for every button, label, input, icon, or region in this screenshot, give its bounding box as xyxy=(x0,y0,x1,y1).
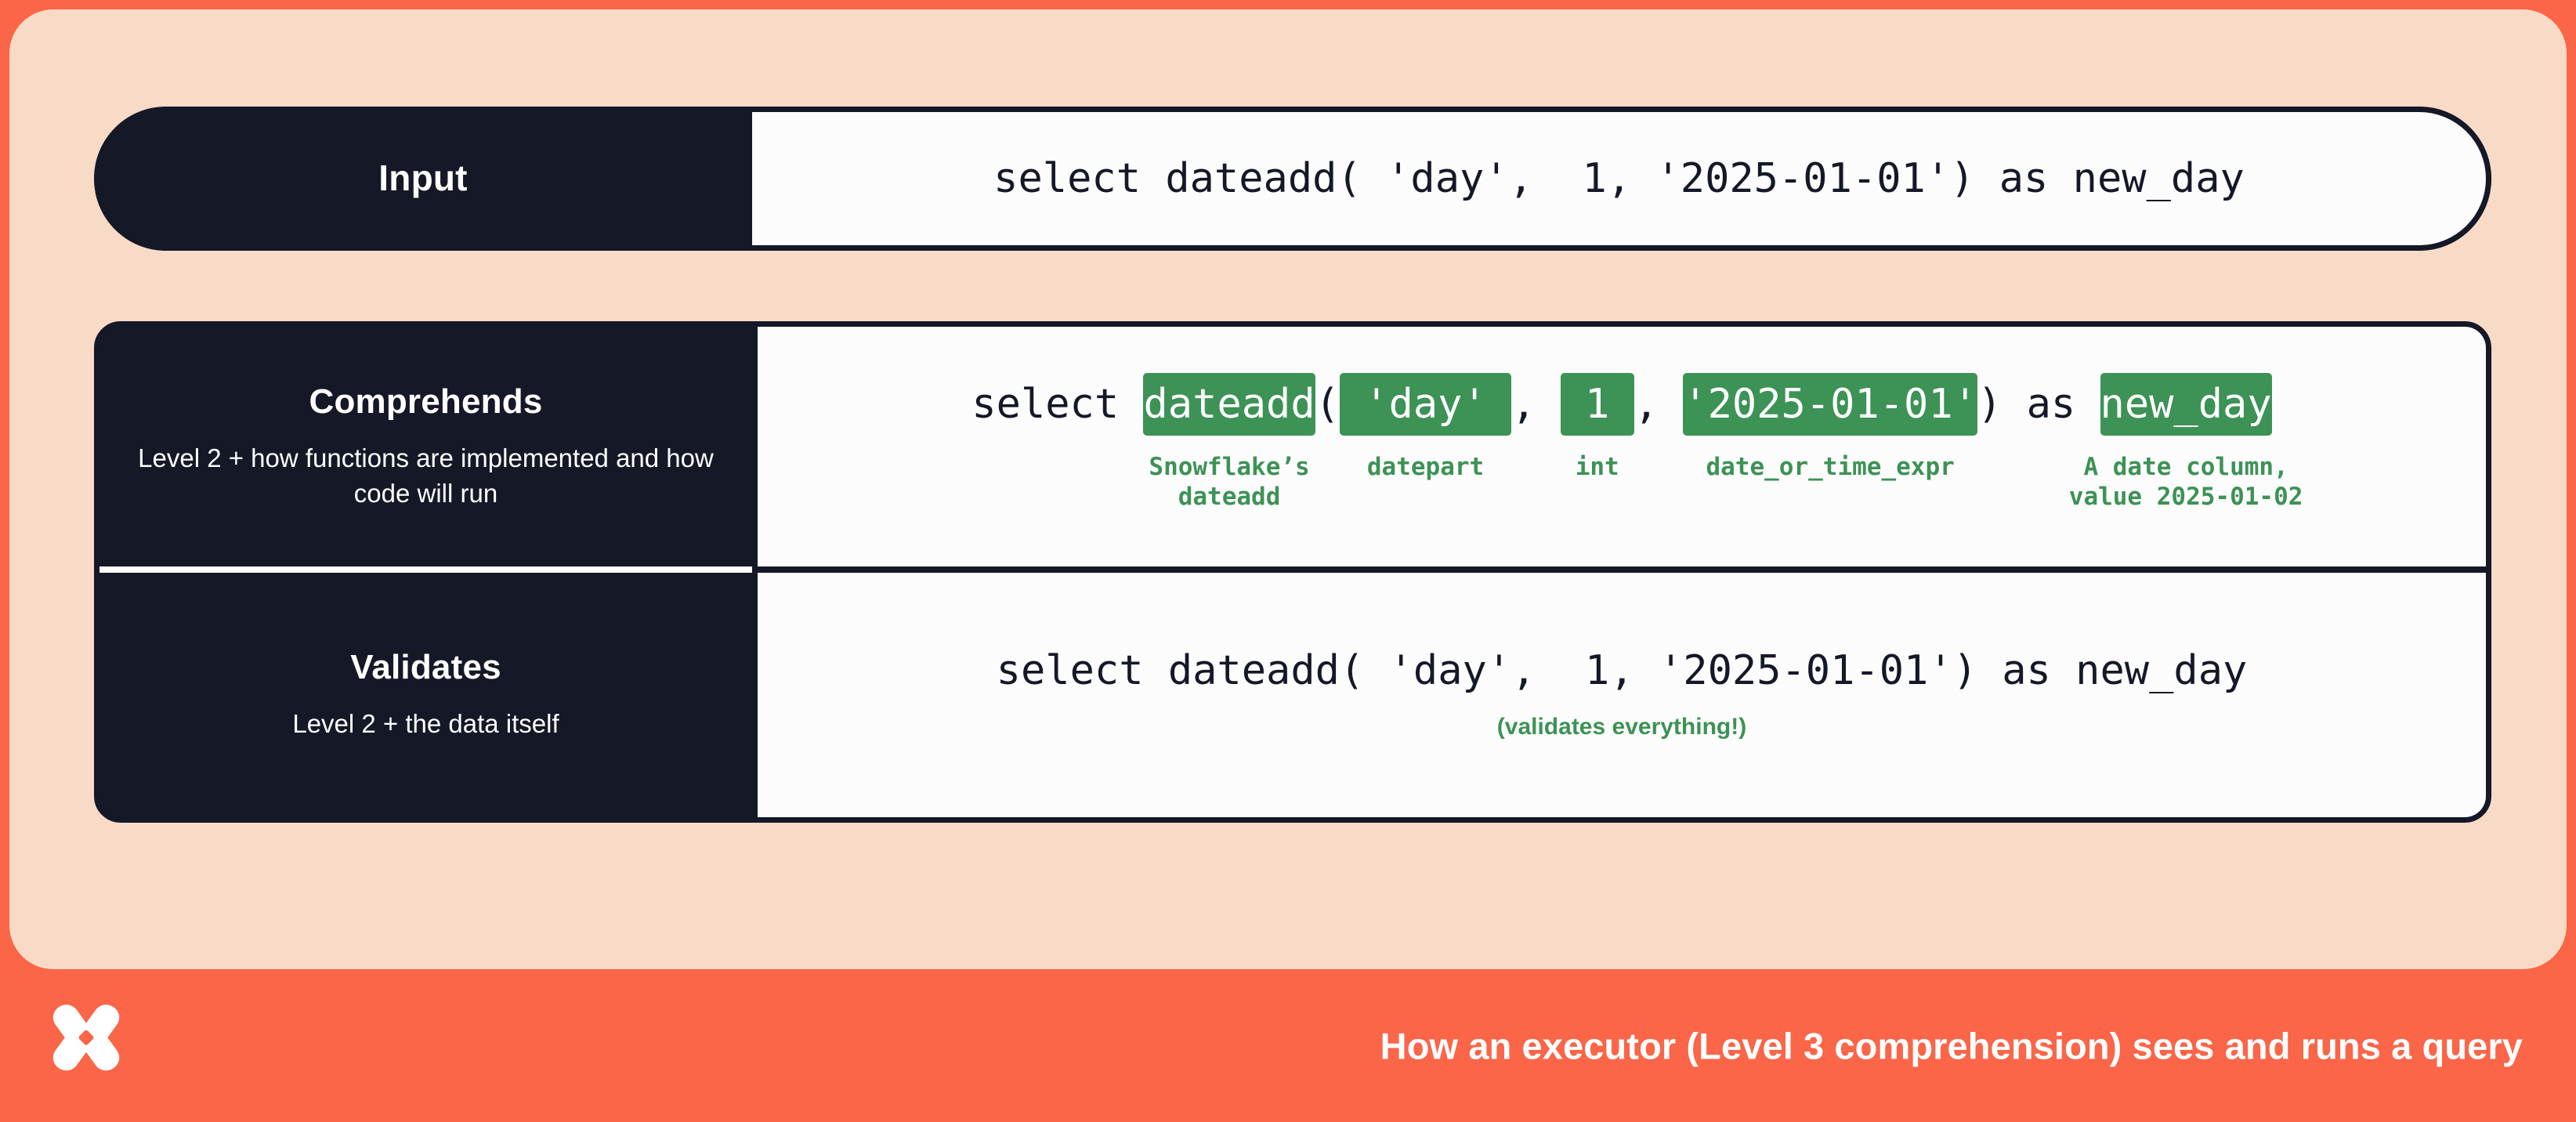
validates-code-panel: select dateadd( 'day', 1, '2025-01-01') … xyxy=(752,573,2486,817)
divider-left-segment xyxy=(99,566,752,573)
row-divider xyxy=(99,566,2486,573)
code-annotation-line: value 2025-01-02 xyxy=(2069,483,2303,512)
validates-row-title: Validates xyxy=(350,648,501,686)
code-annotation: A date column,value 2025-01-02 xyxy=(2069,453,2303,512)
footer-caption-text: How an executor (Level 3 comprehension) … xyxy=(1380,1024,2523,1067)
code-annotation-line: date_or_time_expr xyxy=(1706,453,1954,483)
code-highlight-token: 1 xyxy=(1561,373,1634,436)
comprehends-annotation-row: Snowflake’sdateadddatepartintdate_or_tim… xyxy=(971,453,2271,528)
code-annotation-line: datepart xyxy=(1367,453,1484,483)
validates-note: (validates everything!) xyxy=(1497,714,1746,740)
validates-label-column: Validates Level 2 + the data itself xyxy=(99,573,752,817)
divider-right-segment xyxy=(752,566,2486,573)
code-highlight-token: new_day xyxy=(2100,373,2272,436)
x-star-logo-icon xyxy=(41,999,132,1090)
validates-row: Validates Level 2 + the data itself sele… xyxy=(99,573,2486,817)
code-annotation: Snowflake’sdateadd xyxy=(1149,453,1309,512)
code-annotation-line: Snowflake’s xyxy=(1149,453,1309,483)
comprehends-validates-card: Comprehends Level 2 + how functions are … xyxy=(94,321,2491,823)
code-annotation: date_or_time_expr xyxy=(1706,453,1954,483)
code-annotation-line: dateadd xyxy=(1149,483,1309,512)
comprehends-code-text: select dateadd( 'day' , 1 , '2025-01-01'… xyxy=(971,373,2271,436)
slide-root: Input select dateadd( 'day', 1, '2025-01… xyxy=(0,0,2576,1122)
code-annotation: datepart xyxy=(1367,453,1484,483)
footer-bar: How an executor (Level 3 comprehension) … xyxy=(0,969,2576,1122)
code-annotation: int xyxy=(1576,453,1619,483)
code-plain-token: ( xyxy=(1315,384,1340,425)
input-code-text: select dateadd( 'day', 1, '2025-01-01') … xyxy=(993,157,2245,201)
code-highlight-token: '2025-01-01' xyxy=(1683,373,1977,436)
validates-code-text: select dateadd( 'day', 1, '2025-01-01') … xyxy=(997,650,2248,693)
comprehends-code-annotation-group: select dateadd( 'day' , 1 , '2025-01-01'… xyxy=(971,373,2271,528)
input-code-panel: select dateadd( 'day', 1, '2025-01-01') … xyxy=(752,107,2491,251)
code-highlight-token: 'day' xyxy=(1340,373,1511,436)
input-label-column: Input xyxy=(94,107,752,251)
code-plain-token: , xyxy=(1634,384,1684,425)
content-panel: Input select dateadd( 'day', 1, '2025-01… xyxy=(9,9,2567,969)
code-annotation-line: int xyxy=(1576,453,1619,483)
comprehends-code-panel: select dateadd( 'day' , 1 , '2025-01-01'… xyxy=(752,327,2486,566)
comprehends-row: Comprehends Level 2 + how functions are … xyxy=(99,327,2486,566)
comprehends-row-subtitle: Level 2 + how functions are implemented … xyxy=(129,441,722,511)
code-highlight-token: dateadd xyxy=(1143,373,1315,436)
code-plain-token: select xyxy=(971,384,1143,425)
comprehends-label-column: Comprehends Level 2 + how functions are … xyxy=(99,327,752,566)
input-row-title: Input xyxy=(378,158,467,199)
comprehends-row-title: Comprehends xyxy=(309,382,542,421)
input-row: Input select dateadd( 'day', 1, '2025-01… xyxy=(94,107,2491,251)
code-plain-token: , xyxy=(1511,384,1561,425)
validates-row-subtitle: Level 2 + the data itself xyxy=(292,707,559,742)
code-plain-token: ) as xyxy=(1977,384,2100,425)
code-annotation-line: A date column, xyxy=(2069,453,2303,483)
